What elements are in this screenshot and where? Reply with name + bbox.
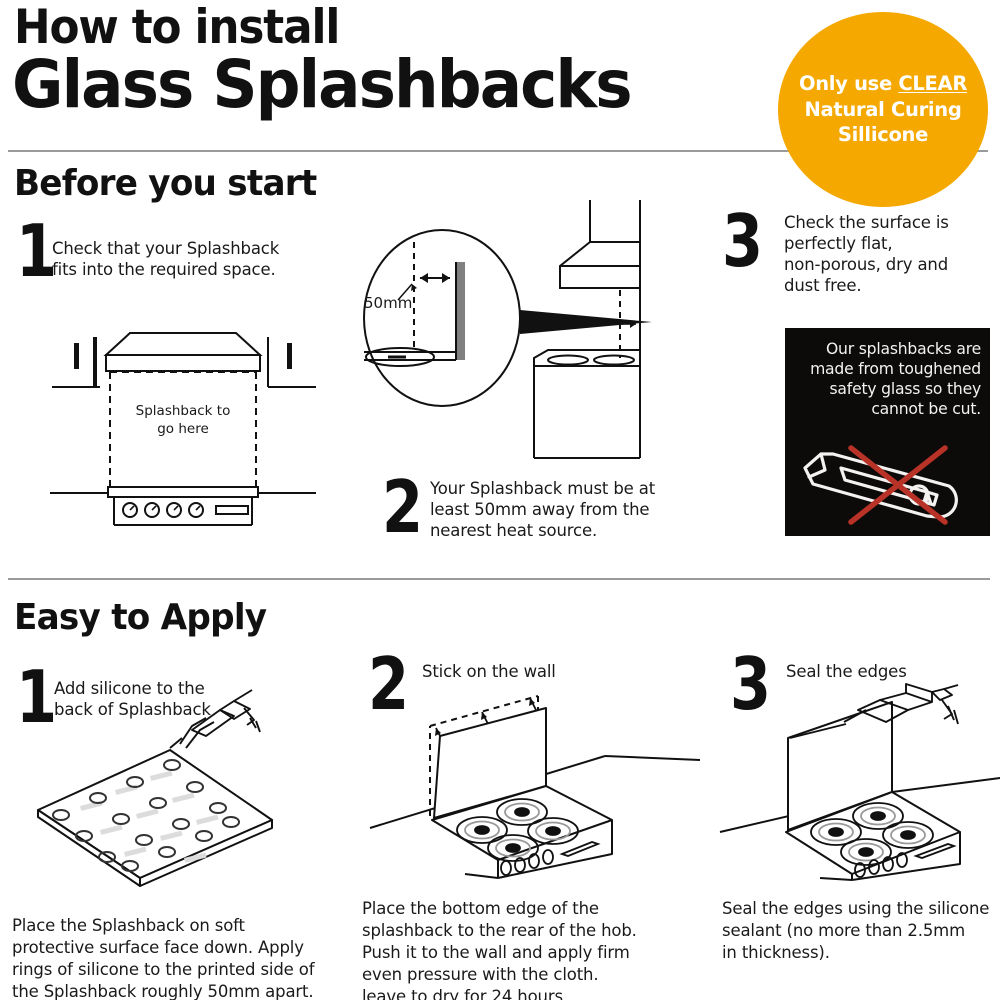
- step-text-before-1: Check that your Splashback fits into the…: [52, 238, 322, 280]
- diagram-label-splashback-here-l2: go here: [157, 421, 209, 437]
- silicone-warning-badge: Only use CLEAR Natural Curing Sillicone: [778, 12, 988, 207]
- step-number-before-3: 3: [722, 212, 761, 271]
- step-caption-apply-2: Place the bottom edge of the splashback …: [362, 898, 662, 1000]
- warning-box-cannot-be-cut: Our splashbacks are made from toughened …: [785, 328, 990, 536]
- step-text-before-2: Your Splashback must be at least 50mm aw…: [430, 478, 690, 541]
- diagram-splashback-fit-elevation: Splashback to go here: [44, 325, 324, 525]
- diagram-stick-panel-to-wall: [370, 688, 700, 878]
- divider-middle: [8, 578, 990, 580]
- diagram-50mm-clearance-sideview: 50mm: [352, 200, 682, 460]
- page-title-line1: How to install: [14, 4, 339, 51]
- badge-line3: Sillicone: [838, 122, 928, 148]
- step-text-apply-3: Seal the edges: [786, 661, 1000, 682]
- section-heading-easy-to-apply: Easy to Apply: [14, 597, 266, 638]
- page-title-line2: Glass Splashbacks: [12, 52, 631, 118]
- poster-root: How to install Glass Splashbacks Only us…: [0, 0, 1000, 1000]
- diagram-label-50mm: 50mm: [364, 294, 412, 312]
- badge-line2: Natural Curing: [804, 97, 961, 123]
- step-number-before-1: 1: [16, 222, 55, 281]
- diagram-silicone-rings-on-panel: [20, 718, 320, 898]
- section-heading-before-you-start: Before you start: [14, 163, 317, 204]
- step-number-before-2: 2: [382, 478, 421, 537]
- diagram-label-splashback-here-l1: Splashback to: [136, 403, 231, 419]
- utility-knife-crossed-out-icon: [799, 446, 975, 524]
- step-text-before-3: Check the surface is perfectly flat, non…: [784, 212, 999, 296]
- step-text-apply-2: Stick on the wall: [422, 661, 672, 682]
- warning-box-text: Our splashbacks are made from toughened …: [795, 339, 981, 419]
- diagram-seal-edges-with-sealant: [720, 680, 1000, 880]
- step-caption-apply-3: Seal the edges using the silicone sealan…: [722, 898, 1000, 964]
- badge-line1: Only use CLEAR: [799, 71, 967, 97]
- badge-emphasis-clear: CLEAR: [898, 72, 967, 95]
- step-caption-apply-1: Place the Splashback on soft protective …: [12, 915, 342, 1000]
